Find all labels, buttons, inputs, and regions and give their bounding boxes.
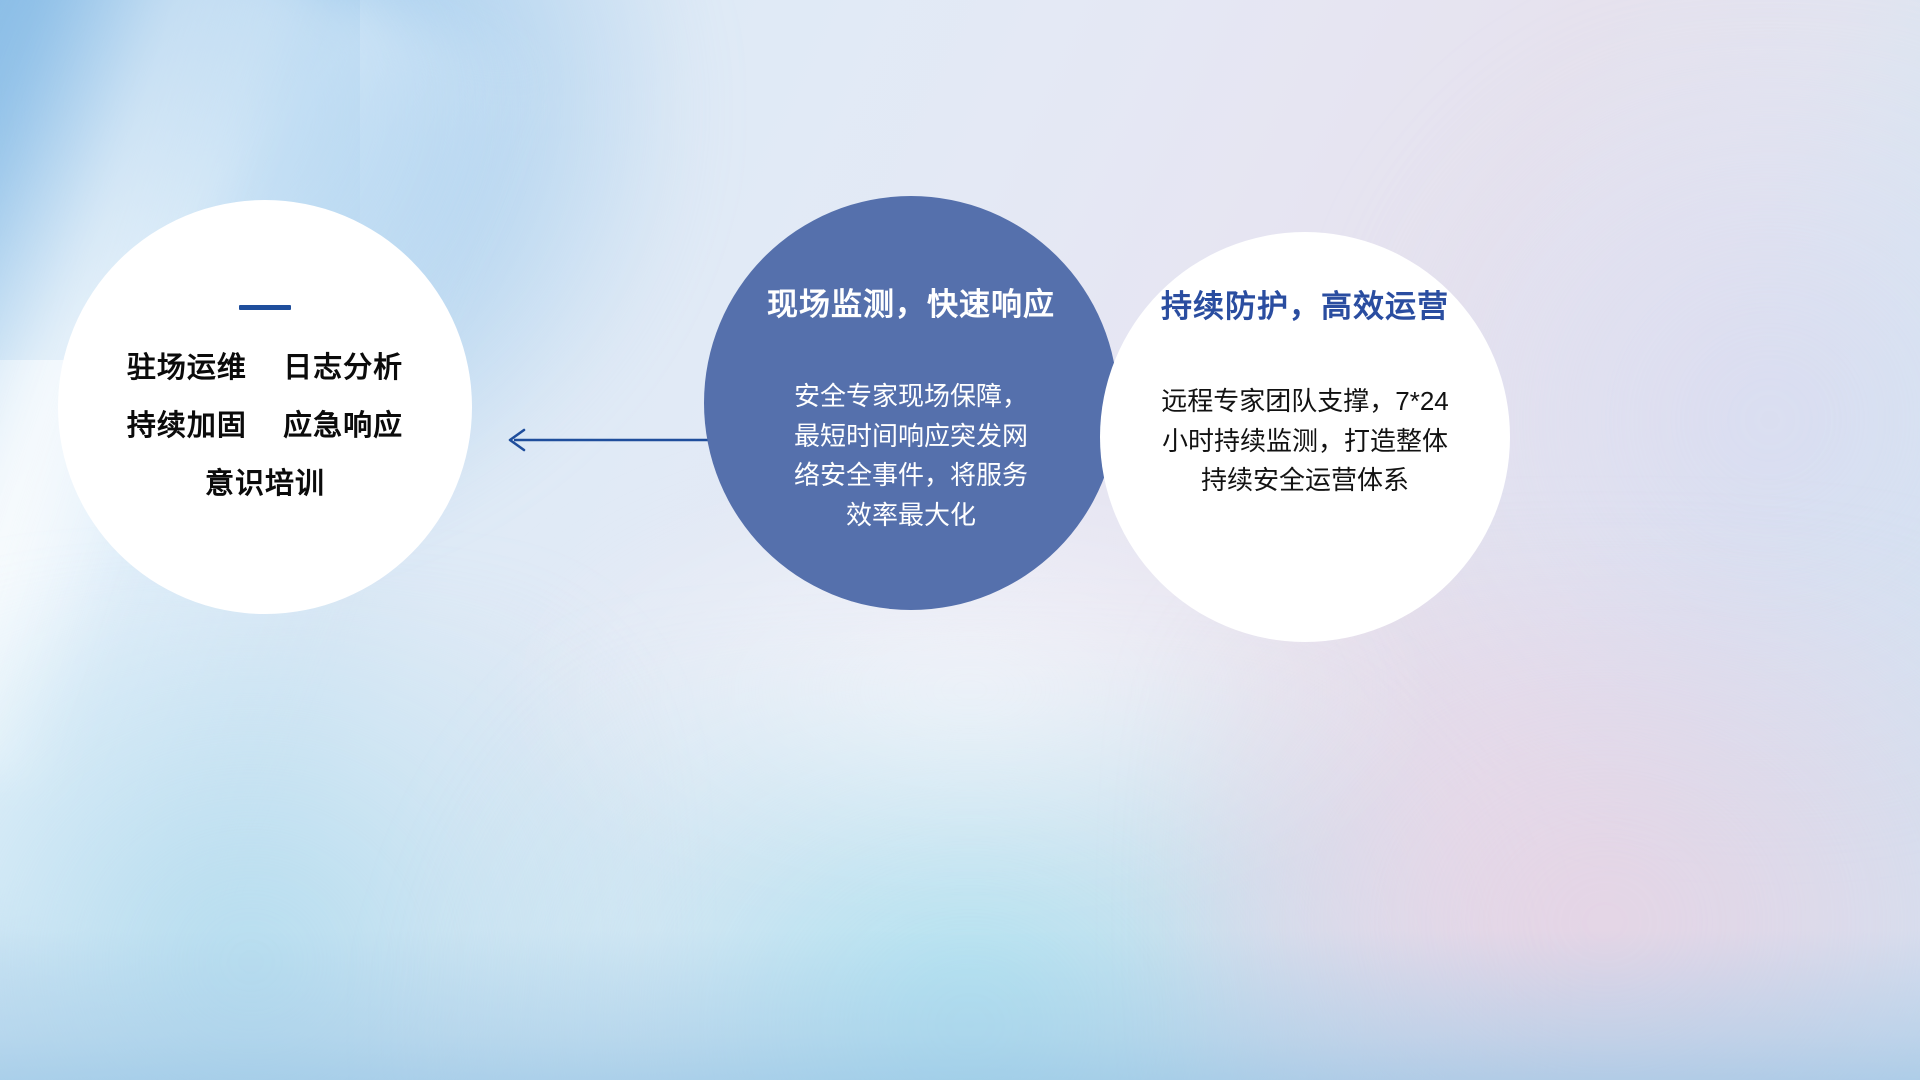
right-circle-body-line-2: 小时持续监测，打造整体 <box>1131 422 1479 462</box>
middle-circle-body-line-1: 安全专家现场保障， <box>746 377 1076 417</box>
slide-canvas: 驻场运维 日志分析 持续加固 应急响应 意识培训 现场监测，快速响应 安全专家现… <box>0 0 1920 1080</box>
right-circle-body-line-1: 远程专家团队支撑，7*24 <box>1131 382 1479 422</box>
right-circle-body: 远程专家团队支撑，7*24 小时持续监测，打造整体 持续安全运营体系 <box>1131 382 1479 501</box>
middle-circle-card[interactable]: 现场监测，快速响应 安全专家现场保障， 最短时间响应突发网 络安全事件，将服务 … <box>704 196 1118 610</box>
right-circle-body-line-3: 持续安全运营体系 <box>1131 461 1479 501</box>
left-circle-line-1: 驻场运维 日志分析 <box>127 354 403 383</box>
left-circle-content: 驻场运维 日志分析 持续加固 应急响应 意识培训 <box>58 200 472 614</box>
right-circle-card[interactable]: 持续防护，高效运营 远程专家团队支撑，7*24 小时持续监测，打造整体 持续安全… <box>1100 232 1510 642</box>
right-circle-content: 持续防护，高效运营 远程专家团队支撑，7*24 小时持续监测，打造整体 持续安全… <box>1100 232 1510 642</box>
middle-circle-body-line-3: 络安全事件，将服务 <box>746 456 1076 496</box>
left-circle-line-2: 持续加固 应急响应 <box>127 412 403 441</box>
left-circle-divider <box>239 305 291 310</box>
middle-circle-content: 现场监测，快速响应 安全专家现场保障， 最短时间响应突发网 络安全事件，将服务 … <box>704 196 1118 610</box>
left-circle-card[interactable]: 驻场运维 日志分析 持续加固 应急响应 意识培训 <box>58 200 472 614</box>
left-circle-line-3: 意识培训 <box>205 470 325 499</box>
middle-circle-title: 现场监测，快速响应 <box>767 288 1055 322</box>
middle-circle-body-line-4: 效率最大化 <box>746 496 1076 536</box>
middle-circle-body-line-2: 最短时间响应突发网 <box>746 417 1076 457</box>
background-shade-bottom <box>0 930 1920 1080</box>
right-circle-title: 持续防护，高效运营 <box>1161 290 1449 324</box>
middle-circle-body: 安全专家现场保障， 最短时间响应突发网 络安全事件，将服务 效率最大化 <box>746 377 1076 535</box>
